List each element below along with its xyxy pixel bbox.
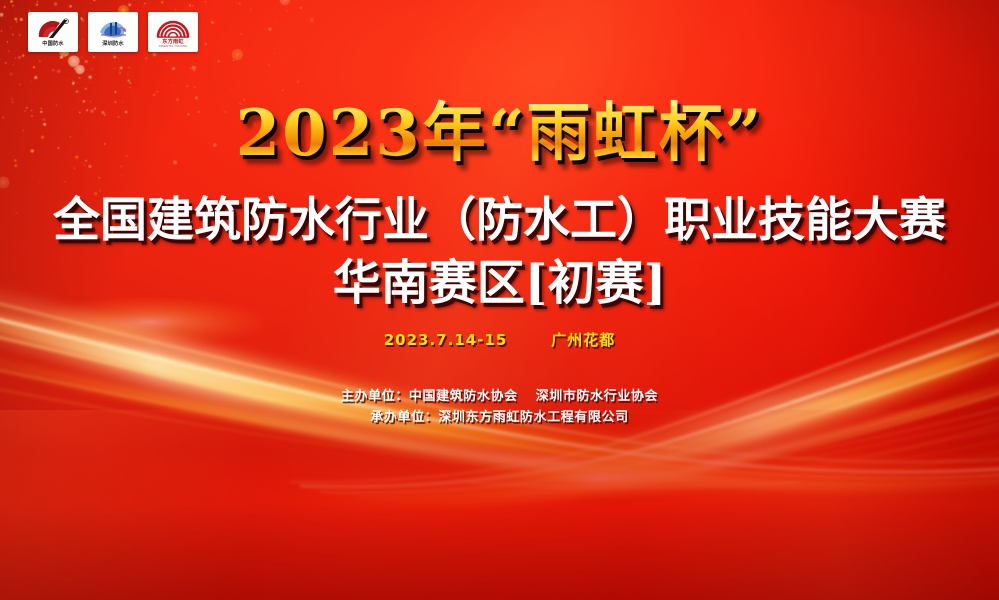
title-line-1: 2023年“雨虹杯” [0,98,999,170]
host-line: 承办单位：深圳东方雨虹防水工程有限公司 [0,407,999,428]
event-location: 广州花都 [551,330,615,350]
title-line-2: 全国建筑防水行业（防水工）职业技能大赛 [0,193,999,249]
event-date: 2023.7.14-15 [384,330,508,350]
poster-banner: R 中国防水 深圳防水 [0,0,999,600]
organizer-name-1: 中国建筑防水协会 [409,389,518,404]
organizer-name-2: 深圳市防水行业协会 [536,389,658,404]
organizer-block: 主办单位：中国建筑防水协会深圳市防水行业协会 承办单位：深圳东方雨虹防水工程有限… [0,386,999,428]
host-name-1: 深圳东方雨虹防水工程有限公司 [438,410,628,425]
organizer-line: 主办单位：中国建筑防水协会深圳市防水行业协会 [0,386,999,407]
poster-text-block: 2023年“雨虹杯” 全国建筑防水行业（防水工）职业技能大赛 华南赛区[初赛] … [0,0,999,600]
host-label: 承办单位： [370,410,438,425]
organizer-label: 主办单位： [341,389,409,404]
title-line-3: 华南赛区[初赛] [0,254,999,312]
event-meta-row: 2023.7.14-15 广州花都 [0,330,999,350]
